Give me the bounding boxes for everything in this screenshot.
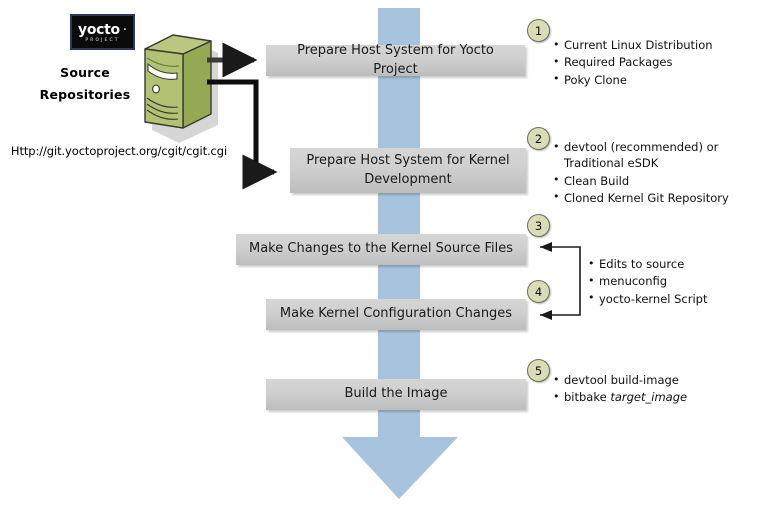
step-notes-2: devtool (recommended) or Traditional eSD…: [553, 139, 767, 207]
step-badge-5: 5: [527, 359, 550, 382]
logo-subtitle: PROJECT: [85, 39, 119, 44]
step-notes-5: devtool build-imagebitbake target_image: [553, 372, 765, 407]
note-item: devtool build-image: [553, 372, 765, 388]
note-item: devtool (recommended) or Traditional eSD…: [553, 139, 767, 172]
note-item: bitbake target_image: [553, 389, 765, 405]
step-box-prepare-host-yocto[interactable]: Prepare Host System for Yocto Project: [266, 45, 525, 76]
connector-step3-step4-bracket: [540, 242, 580, 320]
note-item: menuconfig: [588, 273, 768, 289]
note-item: Edits to source: [588, 256, 768, 272]
note-item: yocto-kernel Script: [588, 291, 768, 307]
logo-dot-icon: ·: [120, 23, 127, 38]
step-notes-1: Current Linux DistributionRequired Packa…: [553, 37, 765, 89]
note-item: Poky Clone: [553, 72, 765, 88]
step-box-build-the-image[interactable]: Build the Image: [266, 379, 526, 410]
logo-wordmark: yocto: [78, 22, 120, 38]
note-item: Clean Build: [553, 173, 767, 189]
note-item-emphasis: target_image: [610, 390, 687, 404]
step-box-prepare-host-kernel[interactable]: Prepare Host System for Kernel Developme…: [290, 148, 526, 193]
server-tower-icon: [135, 28, 219, 144]
step-box-make-kernel-config-changes[interactable]: Make Kernel Configuration Changes: [266, 299, 526, 330]
step-notes-3-and-4: Edits to sourcemenuconfigyocto-kernel Sc…: [588, 256, 768, 308]
step-badge-4: 4: [527, 280, 550, 303]
note-item: Current Linux Distribution: [553, 37, 765, 53]
yocto-project-logo: yocto· PROJECT: [70, 14, 135, 50]
step-badge-3: 3: [527, 214, 550, 237]
step-notes-list-2: devtool (recommended) or Traditional eSD…: [553, 139, 767, 206]
step-notes-list-3-4: Edits to sourcemenuconfigyocto-kernel Sc…: [588, 256, 768, 307]
step-notes-list-5: devtool build-imagebitbake target_image: [553, 372, 765, 406]
source-repository-url: Http://git.yoctoproject.org/cgit/cgit.cg…: [2, 144, 236, 158]
note-item: Cloned Kernel Git Repository: [553, 190, 767, 206]
diagram-canvas: yocto· PROJECT Source Repositories Http:…: [0, 0, 769, 517]
step-badge-1: 1: [527, 19, 550, 42]
step-notes-list-1: Current Linux DistributionRequired Packa…: [553, 37, 765, 88]
step-box-make-kernel-source-changes[interactable]: Make Changes to the Kernel Source Files: [236, 234, 526, 265]
step-badge-2: 2: [527, 127, 550, 150]
note-item: Required Packages: [553, 54, 765, 70]
